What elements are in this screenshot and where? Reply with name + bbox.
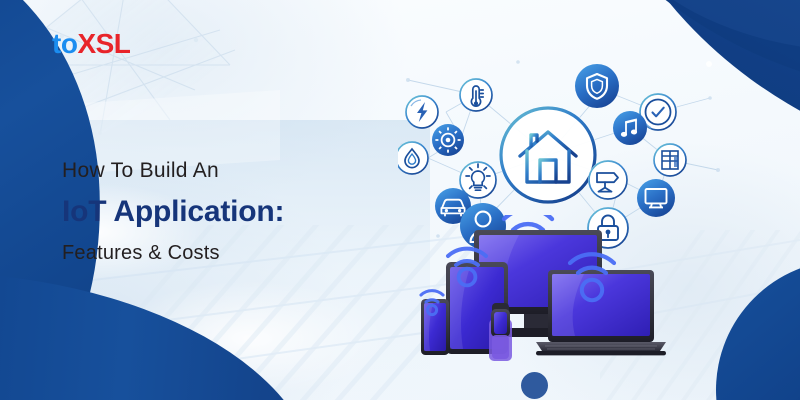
brand-logo[interactable]: toXSL	[52, 30, 130, 58]
logo-text-x: X	[77, 28, 95, 59]
page-title: IoT Application:	[62, 192, 392, 231]
smart-home-icon[interactable]	[499, 106, 597, 204]
shield-icon[interactable]	[575, 64, 619, 108]
cctv-camera-icon[interactable]	[588, 160, 628, 200]
logo-text-to: to	[52, 28, 77, 59]
monitor-icon[interactable]	[637, 179, 675, 217]
building-icon[interactable]	[653, 143, 687, 177]
device-group-svg	[418, 215, 698, 390]
headline-line-3: Features & Costs	[62, 240, 392, 266]
smartwatch-device[interactable]	[489, 303, 512, 361]
headline-line-1: How To Build An	[62, 158, 392, 184]
music-note-icon[interactable]	[613, 111, 647, 145]
logo-text-sl: SL	[96, 28, 131, 59]
water-drop-icon[interactable]	[398, 141, 429, 175]
lightning-bolt-icon[interactable]	[405, 95, 439, 129]
banner-root: toXSL How To Build An IoT Application: F…	[0, 0, 800, 400]
gear-icon[interactable]	[432, 124, 464, 156]
thermometer-icon[interactable]	[459, 78, 493, 112]
headline-block: How To Build An IoT Application: Feature…	[62, 158, 392, 266]
device-group	[418, 215, 698, 390]
